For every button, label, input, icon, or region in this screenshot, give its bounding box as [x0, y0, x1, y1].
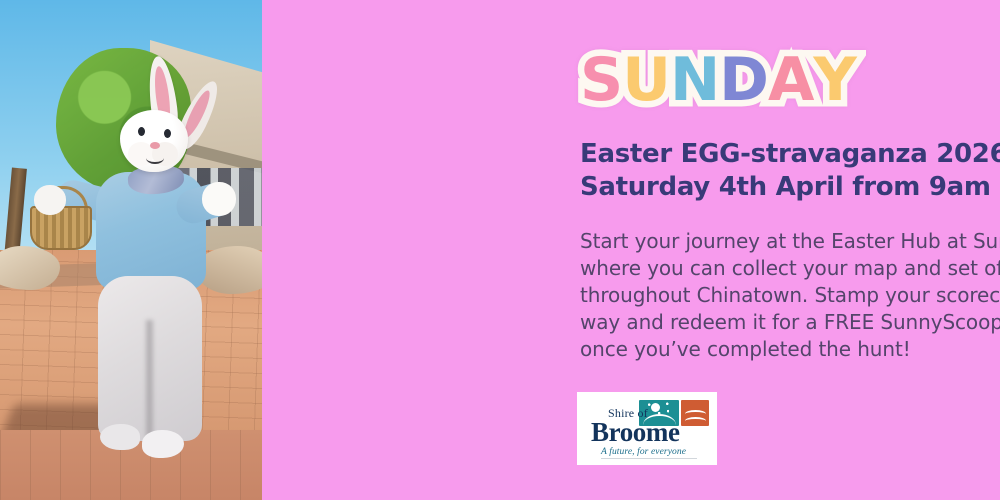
headline-line-2: Saturday 4th April from 9am - 12pm [580, 171, 1000, 204]
bunny-leg-seam [146, 320, 153, 438]
description-line-2: where you can collect your map and set o… [580, 255, 1000, 282]
easter-bunny-mascot-photo [0, 0, 262, 500]
bunny-eye-left [138, 127, 145, 136]
logo-tagline: A future, for everyone [601, 447, 686, 457]
sunday-sticker-word: SUNDAY [580, 44, 856, 116]
sunday-letter-1: S [580, 44, 622, 116]
sunday-letter-3: N [670, 44, 719, 116]
description-line-1: Start your journey at the Easter Hub at … [580, 228, 1000, 255]
bunny-foot-right [142, 430, 184, 458]
sunday-sticker: SUNDAY [580, 44, 856, 116]
bunny-glove-right [202, 182, 236, 216]
event-description: Start your journey at the Easter Hub at … [580, 228, 1000, 363]
easter-event-poster: SUNDAY Easter EGG-stravaganza 2026 Satur… [0, 0, 1000, 500]
sunday-letter-6: Y [813, 44, 855, 116]
bunny-glove-left [34, 185, 66, 215]
content-panel: SUNDAY Easter EGG-stravaganza 2026 Satur… [262, 0, 1000, 500]
headline-line-1: Easter EGG-stravaganza 2026 [580, 138, 1000, 171]
logo-broome-text: Broome [591, 418, 680, 447]
description-line-4: way and redeem it for a FREE SunnyScoops… [580, 309, 1000, 336]
event-headline: Easter EGG-stravaganza 2026 Saturday 4th… [580, 138, 1000, 204]
bunny-eye-right [164, 129, 171, 138]
wave-icon-lower [685, 417, 706, 425]
description-line-3: throughout Chinatown. Stamp your scoreca… [580, 282, 1000, 309]
bunny-mouth [146, 152, 164, 164]
bunny-mascot [0, 0, 262, 500]
description-line-5: once you’ve completed the hunt! [580, 336, 1000, 363]
logo-divider [601, 458, 697, 459]
sunday-letter-2: U [622, 44, 670, 116]
easter-basket [30, 206, 92, 250]
bunny-foot-left [100, 424, 140, 450]
sunday-letter-4: D [719, 44, 768, 116]
bunny-nose [150, 142, 160, 149]
shire-of-broome-logo: Shire of Broome A future, for everyone [577, 392, 717, 465]
sunday-letter-5: A [768, 44, 813, 116]
